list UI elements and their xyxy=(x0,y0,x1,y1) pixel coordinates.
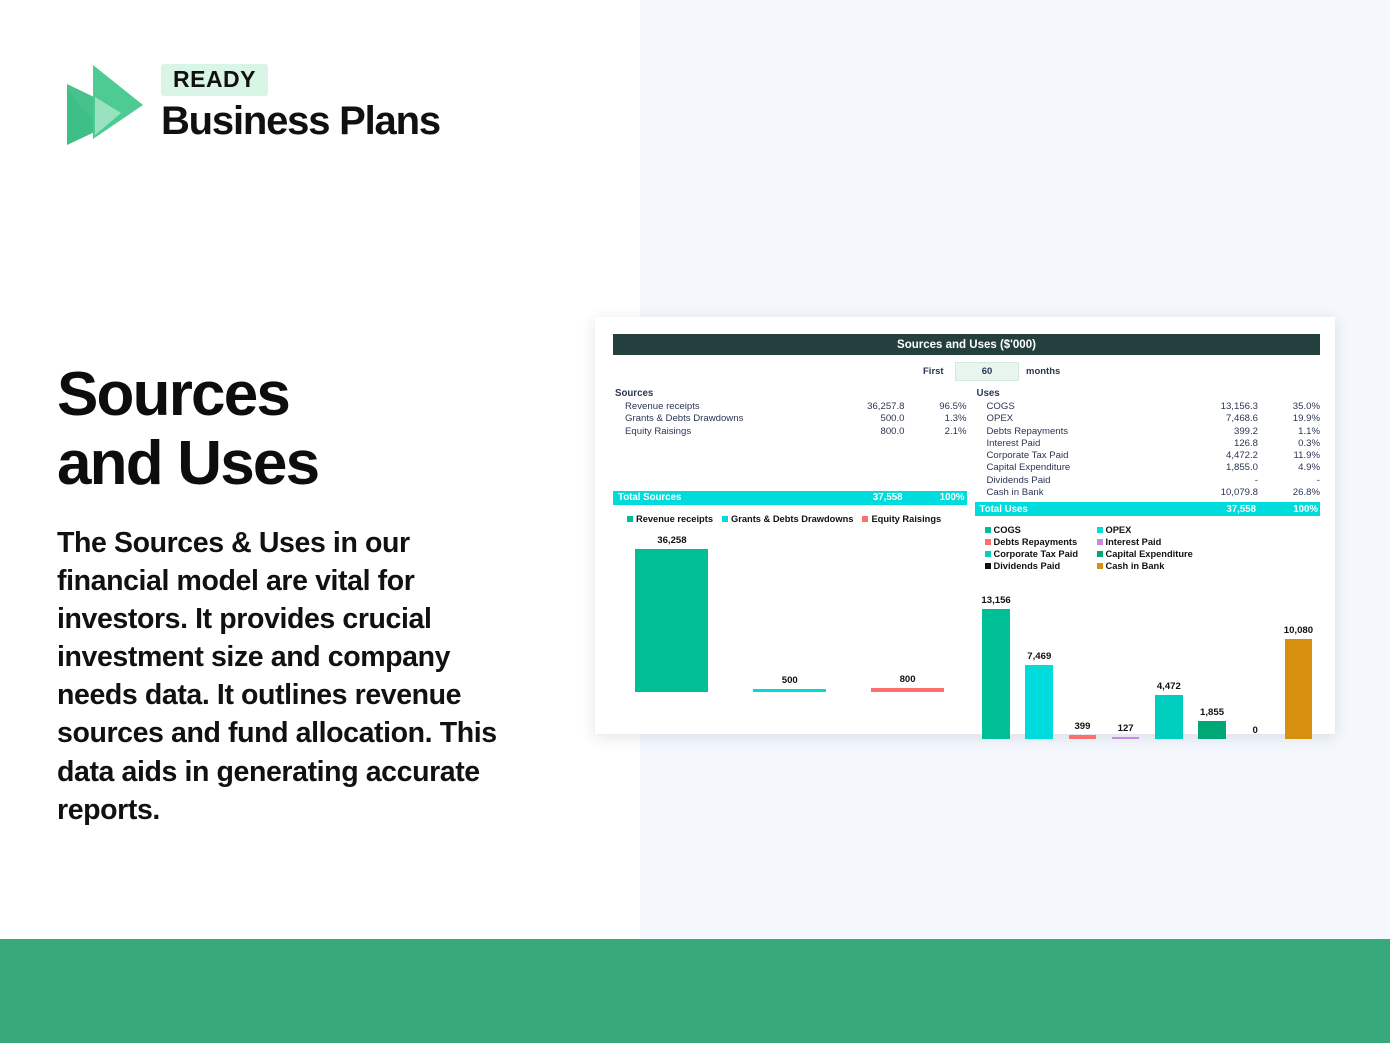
play-triangle-logo-icon xyxy=(57,57,149,149)
bar-slot: 4,472 xyxy=(1147,581,1190,739)
table-row: OPEX 7,468.6 19.9% xyxy=(975,413,1321,425)
bar[interactable] xyxy=(871,688,944,692)
table-row: Interest Paid 126.8 0.3% xyxy=(975,438,1321,450)
row-value: 10,079.8 xyxy=(1186,487,1258,499)
row-percent: 1.1% xyxy=(1258,426,1320,438)
row-label: Capital Expenditure xyxy=(975,462,1187,474)
uses-heading: Uses xyxy=(975,388,1321,399)
table-row: Cash in Bank 10,079.8 26.8% xyxy=(975,487,1321,499)
bar-value-label: 127 xyxy=(1118,724,1134,734)
sources-chart-legend: Revenue receipts Grants & Debts Drawdown… xyxy=(613,514,967,526)
legend-label: Debts Repayments xyxy=(994,537,1078,547)
bar-value-label: 1,855 xyxy=(1200,708,1224,718)
legend-item[interactable]: Corporate Tax Paid xyxy=(985,549,1097,559)
slide-root: READY Business Plans Sources and Uses Th… xyxy=(0,0,1390,1043)
sources-plot-area: 36,258 500 800 xyxy=(613,534,967,692)
legend-swatch-icon xyxy=(1097,563,1103,569)
total-value: 37,558 xyxy=(831,492,903,503)
bar-slot: 13,156 xyxy=(975,581,1018,739)
bar-slot: 500 xyxy=(731,534,849,692)
legend-label: Grants & Debts Drawdowns xyxy=(731,514,853,524)
uses-chart-legend: COGS OPEX Debts Repayments Interest xyxy=(975,525,1321,573)
row-percent: 4.9% xyxy=(1258,462,1320,474)
bar-slot: 399 xyxy=(1061,581,1104,739)
sources-heading: Sources xyxy=(613,388,967,399)
row-label: Interest Paid xyxy=(975,438,1187,450)
row-label: Debts Repayments xyxy=(975,426,1187,438)
row-value: 7,468.6 xyxy=(1186,413,1258,425)
bar[interactable] xyxy=(1155,695,1183,739)
bar[interactable] xyxy=(1285,639,1313,739)
legend-item[interactable]: Capital Expenditure xyxy=(1097,549,1209,559)
total-sources-row: Total Sources 37,558 100% xyxy=(613,491,967,505)
sheet-columns: Sources Revenue receipts 36,257.8 96.5% … xyxy=(613,388,1320,739)
legend-item[interactable]: Grants & Debts Drawdowns xyxy=(722,514,853,524)
bar-value-label: 800 xyxy=(900,675,916,685)
total-percent: 100% xyxy=(903,492,967,503)
period-prefix-label: First xyxy=(923,366,944,377)
row-label: Equity Raisings xyxy=(613,426,833,438)
sources-column: Sources Revenue receipts 36,257.8 96.5% … xyxy=(613,388,967,739)
spreadsheet-inner: Sources and Uses ($'000) First 60 months… xyxy=(613,334,1320,739)
page-title-line1: Sources xyxy=(57,360,289,429)
period-selector-row: First 60 months xyxy=(613,362,1320,382)
bar[interactable] xyxy=(635,549,708,692)
row-value: 4,472.2 xyxy=(1186,450,1258,462)
legend-item[interactable]: Dividends Paid xyxy=(985,561,1097,571)
legend-label: OPEX xyxy=(1106,525,1132,535)
bar[interactable] xyxy=(1198,721,1226,739)
legend-item[interactable]: Interest Paid xyxy=(1097,537,1209,547)
row-value: 800.0 xyxy=(833,426,905,438)
legend-swatch-icon xyxy=(1097,539,1103,545)
bar-slot: 1,855 xyxy=(1190,581,1233,739)
period-suffix-label: months xyxy=(1026,366,1060,377)
table-row: Debts Repayments 399.2 1.1% xyxy=(975,426,1321,438)
bar-slot: 7,469 xyxy=(1018,581,1061,739)
bar[interactable] xyxy=(1025,665,1053,739)
row-percent: 35.0% xyxy=(1258,401,1320,413)
page-title: Sources and Uses xyxy=(57,360,577,499)
legend-swatch-icon xyxy=(862,516,868,522)
page-title-line2: and Uses xyxy=(57,429,318,498)
uses-column: Uses COGS 13,156.3 35.0% OPEX 7,468.6 19… xyxy=(967,388,1321,739)
bar-slot: 10,080 xyxy=(1277,581,1320,739)
table-row: Corporate Tax Paid 4,472.2 11.9% xyxy=(975,450,1321,462)
sources-spacer xyxy=(613,438,967,488)
row-label: OPEX xyxy=(975,413,1187,425)
brand-logo[interactable]: READY Business Plans xyxy=(57,57,440,149)
bar-value-label: 399 xyxy=(1074,722,1090,732)
row-value: 399.2 xyxy=(1186,426,1258,438)
brand-name: Business Plans xyxy=(161,100,440,142)
legend-swatch-icon xyxy=(985,539,991,545)
legend-item[interactable]: Equity Raisings xyxy=(862,514,941,524)
row-value: - xyxy=(1186,475,1258,487)
legend-item[interactable]: Debts Repayments xyxy=(985,537,1097,547)
legend-label: Cash in Bank xyxy=(1106,561,1165,571)
legend-label: COGS xyxy=(994,525,1021,535)
total-percent: 100% xyxy=(1256,504,1320,515)
row-percent: 2.1% xyxy=(905,426,967,438)
uses-plot-area: 13,156 7,469 399 xyxy=(975,581,1321,739)
legend-item[interactable]: Revenue receipts xyxy=(627,514,713,524)
row-label: Cash in Bank xyxy=(975,487,1187,499)
row-label: Grants & Debts Drawdowns xyxy=(613,413,833,425)
row-value: 13,156.3 xyxy=(1186,401,1258,413)
row-percent: 96.5% xyxy=(905,401,967,413)
row-percent: 26.8% xyxy=(1258,487,1320,499)
bar-slot: 800 xyxy=(849,534,967,692)
legend-label: Dividends Paid xyxy=(994,561,1061,571)
table-row: Revenue receipts 36,257.8 96.5% xyxy=(613,401,967,413)
period-months-input[interactable]: 60 xyxy=(955,362,1019,381)
page-body-text: The Sources & Uses in our financial mode… xyxy=(57,524,502,830)
bar-value-label: 500 xyxy=(782,676,798,686)
bar-value-label: 7,469 xyxy=(1027,652,1051,662)
legend-label: Revenue receipts xyxy=(636,514,713,524)
legend-swatch-icon xyxy=(985,551,991,557)
row-value: 36,257.8 xyxy=(833,401,905,413)
legend-swatch-icon xyxy=(1097,527,1103,533)
total-uses-row: Total Uses 37,558 100% xyxy=(975,502,1321,516)
legend-swatch-icon xyxy=(985,527,991,533)
legend-swatch-icon xyxy=(1097,551,1103,557)
bar-value-label: 4,472 xyxy=(1157,682,1181,692)
legend-label: Capital Expenditure xyxy=(1106,549,1193,559)
row-percent: 19.9% xyxy=(1258,413,1320,425)
bar[interactable] xyxy=(1069,735,1097,739)
table-row: Grants & Debts Drawdowns 500.0 1.3% xyxy=(613,413,967,425)
row-label: COGS xyxy=(975,401,1187,413)
sources-bar-chart: 36,258 500 800 xyxy=(613,534,967,692)
table-row: Capital Expenditure 1,855.0 4.9% xyxy=(975,462,1321,474)
bar-slot: 127 xyxy=(1104,581,1147,739)
legend-swatch-icon xyxy=(985,563,991,569)
bar-slot: 36,258 xyxy=(613,534,731,692)
bar-value-label: 36,258 xyxy=(657,536,686,546)
sheet-title-bar: Sources and Uses ($'000) xyxy=(613,334,1320,355)
row-value: 500.0 xyxy=(833,413,905,425)
bar-value-label: 13,156 xyxy=(981,596,1010,606)
legend-item[interactable]: Cash in Bank xyxy=(1097,561,1209,571)
total-label: Total Sources xyxy=(613,492,831,503)
ready-badge: READY xyxy=(161,64,268,96)
bar-slot: 0 xyxy=(1234,581,1277,739)
row-percent: 11.9% xyxy=(1258,450,1320,462)
brand-text: READY Business Plans xyxy=(161,64,440,142)
row-percent: - xyxy=(1258,475,1320,487)
row-label: Dividends Paid xyxy=(975,475,1187,487)
row-label: Revenue receipts xyxy=(613,401,833,413)
bar[interactable] xyxy=(753,689,826,692)
row-percent: 1.3% xyxy=(905,413,967,425)
spreadsheet-card: Sources and Uses ($'000) First 60 months… xyxy=(595,317,1335,734)
bar[interactable] xyxy=(1112,737,1140,739)
table-row: Dividends Paid - - xyxy=(975,475,1321,487)
table-row: COGS 13,156.3 35.0% xyxy=(975,401,1321,413)
bar[interactable] xyxy=(982,609,1010,739)
table-row: Equity Raisings 800.0 2.1% xyxy=(613,426,967,438)
legend-label: Corporate Tax Paid xyxy=(994,549,1079,559)
legend-item[interactable]: OPEX xyxy=(1097,525,1209,535)
uses-bar-chart: 13,156 7,469 399 xyxy=(975,581,1321,739)
legend-label: Equity Raisings xyxy=(871,514,941,524)
total-value: 37,558 xyxy=(1184,504,1256,515)
row-percent: 0.3% xyxy=(1258,438,1320,450)
row-value: 1,855.0 xyxy=(1186,462,1258,474)
bar-value-label: 10,080 xyxy=(1284,626,1313,636)
legend-swatch-icon xyxy=(627,516,633,522)
legend-item[interactable]: COGS xyxy=(985,525,1097,535)
bottom-accent-band xyxy=(0,939,1390,1043)
legend-swatch-icon xyxy=(722,516,728,522)
row-label: Corporate Tax Paid xyxy=(975,450,1187,462)
bar-value-label: 0 xyxy=(1253,726,1258,736)
legend-label: Interest Paid xyxy=(1106,537,1162,547)
row-value: 126.8 xyxy=(1186,438,1258,450)
total-label: Total Uses xyxy=(975,504,1185,515)
